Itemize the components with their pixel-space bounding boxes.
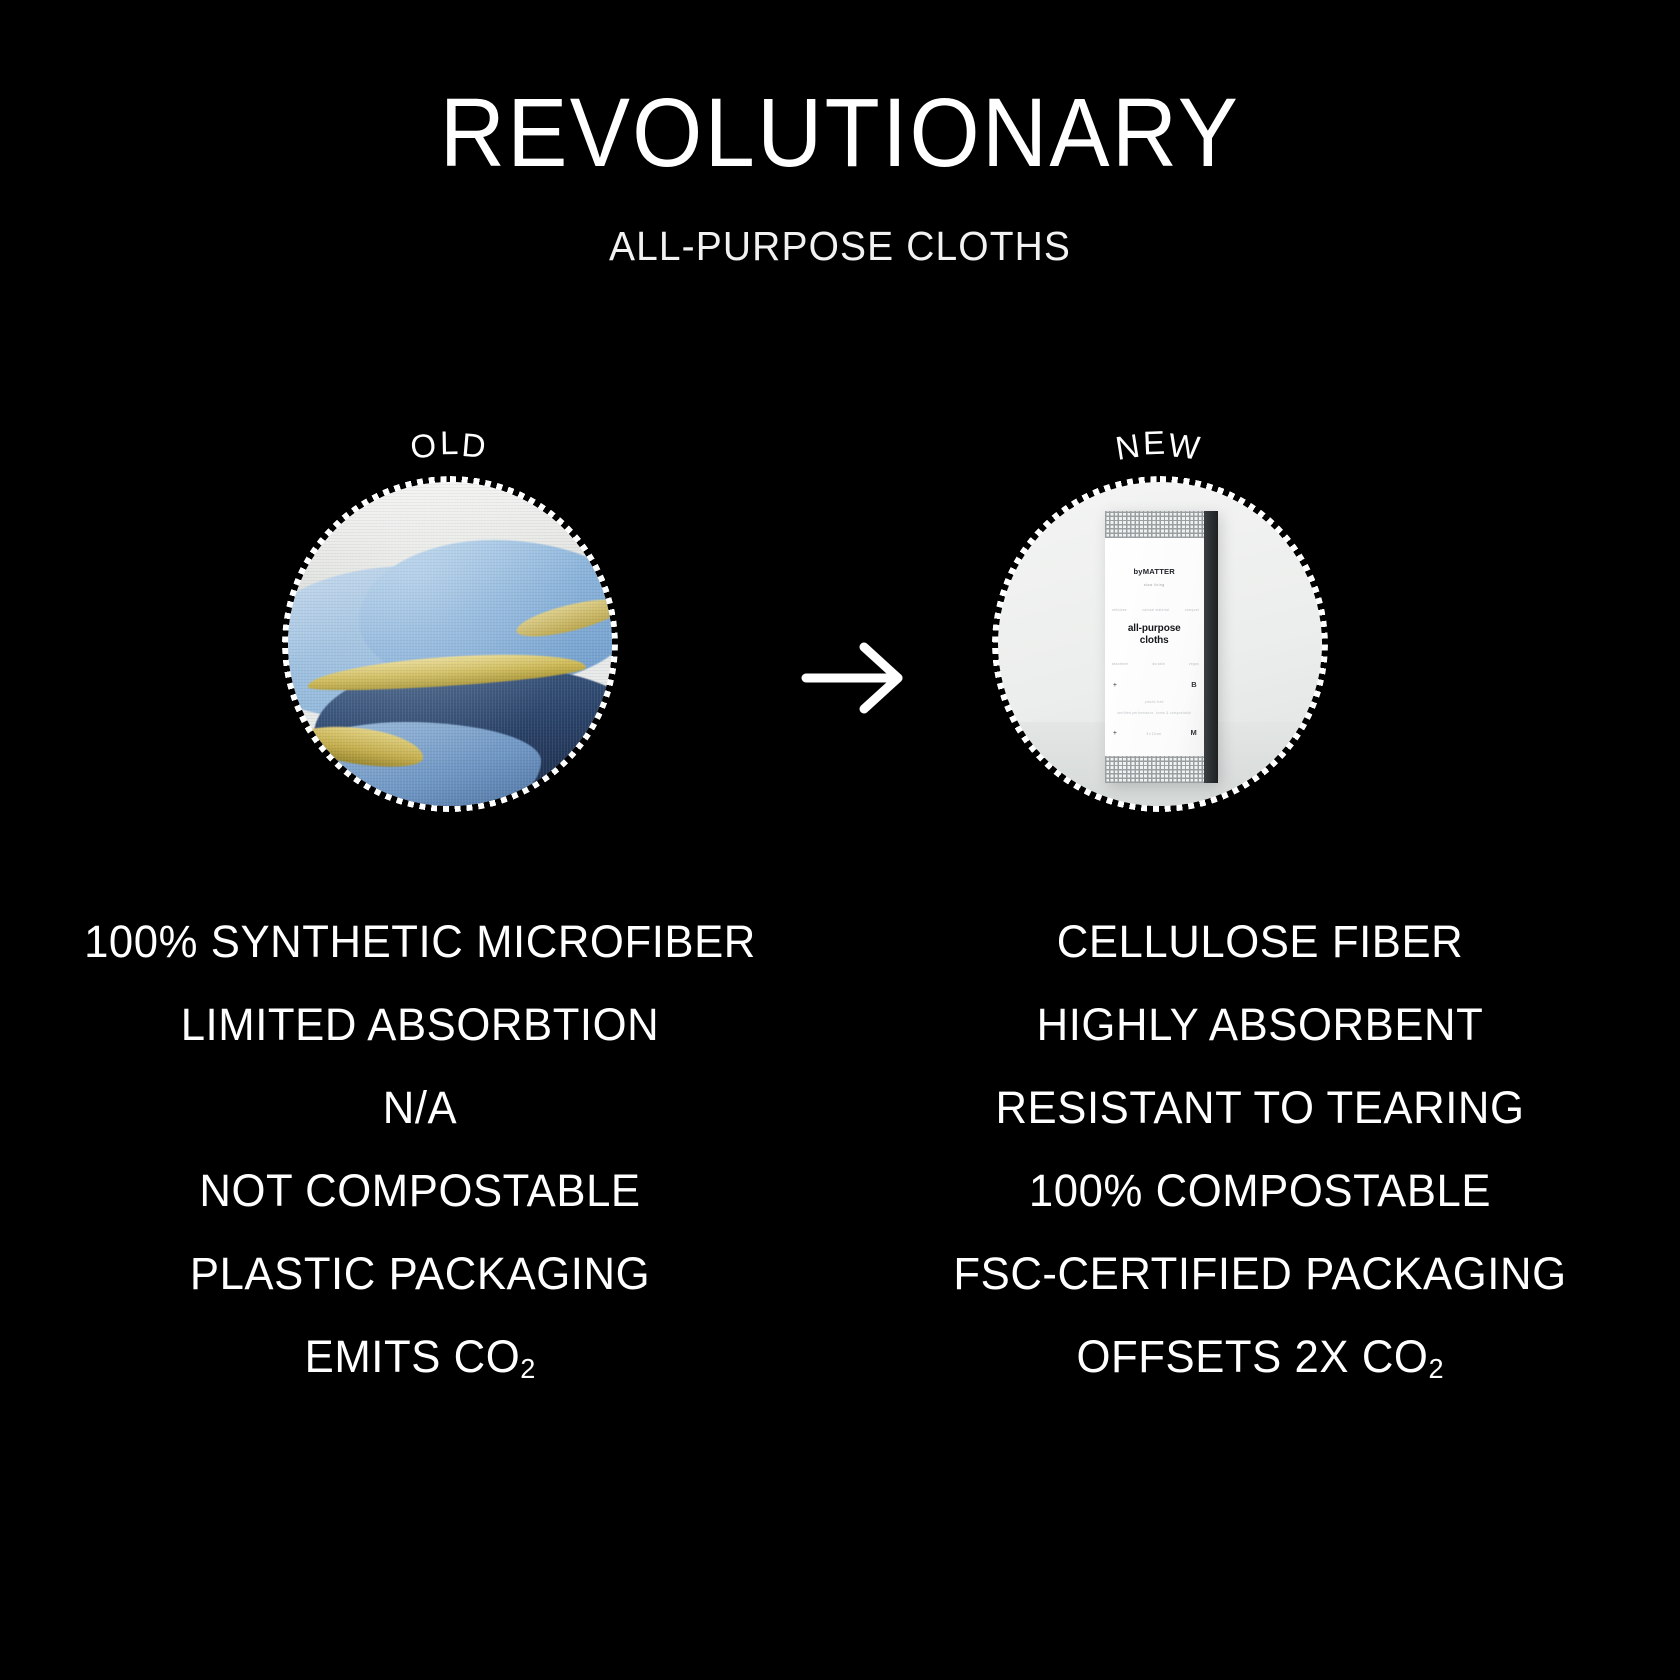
package-micro-row-1: cellulose natural material compost (1112, 608, 1199, 612)
feature-text: 100% SYNTHETIC MICROFIBER (84, 916, 756, 967)
package-plus-1: + (1113, 682, 1117, 689)
cloth-highlight (288, 482, 612, 806)
medallion-label-old-letter-2: L (439, 424, 462, 462)
feature-item-old-6: EMITS CO2 (13, 1315, 828, 1398)
package-letter-m: M (1190, 728, 1196, 737)
package-micro-1-a: cellulose (1112, 608, 1127, 612)
package-brand: byMATTER (1105, 567, 1204, 576)
page-title: REVOLUTIONARY (59, 84, 1621, 181)
medallion-label-old-letter-1: O (408, 425, 442, 466)
feature-item-old-4: NOT COMPOSTABLE (13, 1149, 828, 1232)
feature-item-old-1: 100% SYNTHETIC MICROFIBER (13, 900, 828, 983)
package-micro-2-b: durable (1152, 662, 1165, 666)
photo-old-microfiber-cloths (288, 482, 612, 806)
package-fine-line-1: plastic free (1105, 700, 1204, 705)
package-micro-1-b: natural material (1142, 608, 1169, 612)
package-mesh-bottom (1105, 756, 1218, 783)
feature-text: OFFSETS 2X CO (1076, 1331, 1428, 1382)
comparison-medallions: OLD (0, 418, 1680, 838)
arrow-right-icon (790, 633, 920, 723)
package-micro-2-c: vegan (1189, 662, 1199, 666)
medallion-new: NEW byMATTER slow living cellulose natur… (960, 418, 1360, 838)
package-brand-name: MATTER (1143, 567, 1175, 576)
comparison-column-old: 100% SYNTHETIC MICROFIBERLIMITED ABSORBT… (0, 900, 840, 1398)
feature-item-old-2: LIMITED ABSORBTION (13, 983, 828, 1066)
comparison-lists: 100% SYNTHETIC MICROFIBERLIMITED ABSORBT… (0, 900, 1680, 1398)
medallion-old: OLD (250, 418, 650, 838)
feature-item-new-6: OFFSETS 2X CO2 (853, 1315, 1668, 1398)
package-brand-tagline: slow living (1105, 583, 1204, 587)
package-letter-b: B (1191, 680, 1196, 689)
feature-text: FSC-CERTIFIED PACKAGING (953, 1248, 1566, 1299)
package-mid-2: 3 x 10 cm (1146, 732, 1161, 736)
package-product-line-1: all-purpose (1128, 623, 1181, 634)
medallion-label-new-letter-2: E (1143, 424, 1170, 463)
medallion-label-new: NEW (960, 424, 1360, 462)
package-plus-2: + (1113, 730, 1117, 737)
comparison-column-new: CELLULOSE FIBERHIGHLY ABSORBENTRESISTANT… (840, 900, 1680, 1398)
feature-subscript: 2 (1428, 1353, 1443, 1384)
feature-item-new-5: FSC-CERTIFIED PACKAGING (853, 1232, 1668, 1315)
package-micro-1-c: compost (1185, 608, 1199, 612)
feature-item-new-1: CELLULOSE FIBER (853, 900, 1668, 983)
package-product-name: all-purpose cloths (1105, 623, 1204, 648)
feature-text: 100% COMPOSTABLE (1029, 1165, 1491, 1216)
header: REVOLUTIONARY ALL-PURPOSE CLOTHS (0, 0, 1680, 270)
page-subtitle: ALL-PURPOSE CLOTHS (42, 223, 1638, 270)
package-mesh-top (1105, 511, 1218, 538)
medallion-label-old-letter-3: D (460, 426, 491, 466)
feature-item-old-5: PLASTIC PACKAGING (13, 1232, 828, 1315)
feature-text: CELLULOSE FIBER (1057, 916, 1464, 967)
feature-text: PLASTIC PACKAGING (190, 1248, 650, 1299)
package-fine-line-2: certified performance, home & compostabl… (1105, 711, 1204, 716)
feature-subscript: 2 (520, 1353, 535, 1384)
feature-item-old-3: N/A (13, 1066, 828, 1149)
feature-text: N/A (383, 1082, 458, 1133)
feature-text: HIGHLY ABSORBENT (1037, 999, 1484, 1050)
feature-item-new-2: HIGHLY ABSORBENT (853, 983, 1668, 1066)
feature-text: RESISTANT TO TEARING (995, 1082, 1524, 1133)
medallion-label-old: OLD (250, 424, 650, 462)
package-spine (1204, 511, 1219, 783)
new-feature-list: CELLULOSE FIBERHIGHLY ABSORBENTRESISTANT… (840, 900, 1680, 1398)
old-feature-list: 100% SYNTHETIC MICROFIBERLIMITED ABSORBT… (0, 900, 840, 1398)
package-micro-row-2: absorbent durable vegan (1112, 662, 1199, 666)
package-marks-row-2: + 3 x 10 cm M (1113, 728, 1197, 737)
feature-item-new-4: 100% COMPOSTABLE (853, 1149, 1668, 1232)
product-package: byMATTER slow living cellulose natural m… (1105, 511, 1218, 783)
package-product-line-2: cloths (1140, 635, 1169, 646)
medallion-label-new-letter-3: W (1167, 426, 1207, 468)
photo-new-product-package: byMATTER slow living cellulose natural m… (998, 482, 1322, 806)
cloth-illustration (288, 482, 612, 806)
package-micro-2-a: absorbent (1112, 662, 1129, 666)
feature-text: EMITS CO (305, 1331, 521, 1382)
package-marks-row-1: + B (1113, 680, 1197, 689)
package-illustration: byMATTER slow living cellulose natural m… (998, 482, 1322, 806)
package-brand-prefix: by (1133, 567, 1142, 576)
feature-item-new-3: RESISTANT TO TEARING (853, 1066, 1668, 1149)
feature-text: LIMITED ABSORBTION (181, 999, 660, 1050)
feature-text: NOT COMPOSTABLE (199, 1165, 640, 1216)
